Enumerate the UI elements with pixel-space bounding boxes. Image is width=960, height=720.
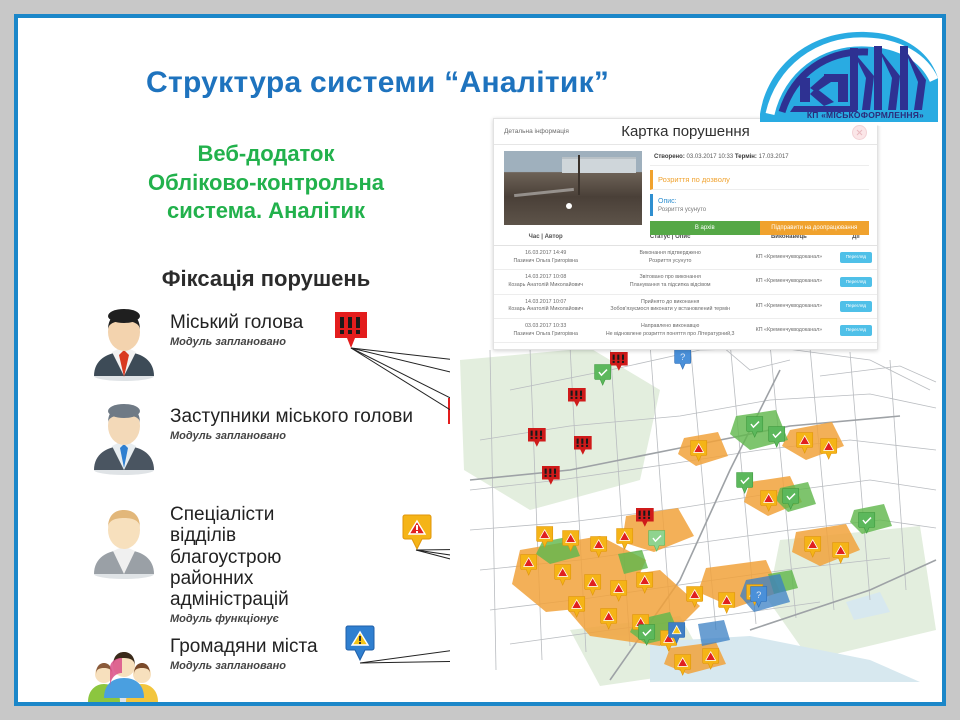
- blue-warning-pin-icon: [345, 625, 375, 661]
- city-violations-map[interactable]: ? ?: [450, 330, 942, 702]
- cell-author: Козарь Анатолій Миколайович: [496, 306, 595, 314]
- deadline-label: Термін:: [735, 154, 757, 160]
- company-logo: КП «МІСЬКОФОРМЛЕННЯ»: [746, 18, 942, 132]
- section-label: Фіксація порушень: [86, 266, 446, 292]
- cell-time-author: 14.03.2017 10:08 Козарь Анатолій Миколай…: [494, 270, 597, 294]
- description-row: Опис: Розриття усунуто: [650, 194, 869, 216]
- logo-caption: КП «МІСЬКОФОРМЛЕННЯ»: [807, 110, 924, 120]
- cell-status: Направлено виконавцю: [599, 323, 741, 331]
- table-row[interactable]: 03.03.2017 10:33 Пазинич Ольга Григорівн…: [494, 319, 877, 343]
- cell-time-author: 14.03.2017 10:07 Козарь Анатолій Миколай…: [494, 294, 597, 318]
- card-body: Створено: 03.03.2017 10:33 Термін: 17.03…: [494, 145, 877, 229]
- cell-time: 03.03.2017 10:33: [496, 323, 595, 331]
- cell-status: Виконання підтверджено: [599, 250, 741, 258]
- slide-frame: Структура системи “Аналітик” Веб-додаток…: [14, 14, 946, 706]
- cell-desc: Розриття усунуто: [599, 258, 741, 266]
- cell-status-desc: Звітовано про виконання Планування та пі…: [597, 270, 743, 294]
- role-name: Спеціалісти відділів благоустрою районни…: [170, 504, 289, 610]
- page-title: Структура системи “Аналітик”: [146, 66, 609, 100]
- role-status: Модуль заплановано: [170, 430, 413, 442]
- businessman-blue-tie-icon: [86, 400, 162, 476]
- cell-time-author: 03.03.2017 10:33 Пазинич Ольга Григорівн…: [494, 319, 597, 343]
- role-text: Заступники міського голови Модуль заплан…: [170, 406, 413, 442]
- cell-status-desc: Прийнято до виконання Зобов'язуємося вик…: [597, 294, 743, 318]
- cell-time: 16.03.2017 14:49: [496, 250, 595, 258]
- svg-text:?: ?: [756, 590, 761, 600]
- cell-executor: КП «Кременчукводоканал»: [743, 294, 835, 318]
- violation-card[interactable]: Детальна інформація Картка порушення Ств…: [493, 118, 878, 350]
- orange-triangle-pin-icon: [402, 514, 432, 550]
- cell-status-desc: Направлено виконавцю Не відновлене розри…: [597, 319, 743, 343]
- cell-author: Козарь Анатолій Миколайович: [496, 282, 595, 290]
- cell-time: 14.03.2017 10:08: [496, 274, 595, 282]
- cell-time-author: 16.03.2017 14:49 Пазинич Ольга Григорівн…: [494, 246, 597, 270]
- cell-status-desc: Виконання підтверджено Розриття усунуто: [597, 246, 743, 270]
- role-name: Заступники міського голови: [170, 406, 413, 427]
- violation-photo[interactable]: [504, 151, 642, 225]
- specialist-gray-suit-icon: [86, 504, 162, 580]
- archive-button[interactable]: В архів: [650, 221, 760, 235]
- role-text: Міський голова Модуль заплановано: [170, 312, 303, 348]
- app-name: Веб-додаток Обліково-контрольна система.…: [86, 140, 446, 226]
- row-action-button[interactable]: Перегляд: [840, 301, 872, 312]
- table-row[interactable]: 14.03.2017 10:07 Козарь Анатолій Миколай…: [494, 294, 877, 318]
- card-meta: Створено: 03.03.2017 10:33 Термін: 17.03…: [650, 151, 869, 166]
- app-name-line-2: Обліково-контрольна: [86, 169, 446, 198]
- role-name: Міський голова: [170, 312, 303, 333]
- created-value: 03.03.2017 10:33: [687, 154, 734, 160]
- svg-text:?: ?: [680, 352, 685, 362]
- row-action-button[interactable]: Перегляд: [840, 252, 872, 263]
- forward-button[interactable]: Підправити на доопрацювання: [760, 221, 870, 235]
- card-actions: В архів Підправити на доопрацювання: [650, 221, 869, 235]
- cell-executor: КП «Кременчукводоканал»: [743, 319, 835, 343]
- tab-detailed-info[interactable]: Детальна інформація: [504, 128, 569, 135]
- cell-executor: КП «Кременчукводоканал»: [743, 270, 835, 294]
- deadline-value: 17.03.2017: [759, 154, 789, 160]
- cell-action: Перегляд: [835, 294, 877, 318]
- role-name: Громадяни міста: [170, 636, 318, 657]
- violation-type-row: Розриття по дозволу: [650, 170, 869, 190]
- logo-mark: КП «МІСЬКОФОРМЛЕННЯ»: [754, 18, 940, 122]
- businessman-red-tie-icon: [86, 306, 162, 382]
- role-text: Громадяни міста Модуль заплановано: [170, 636, 318, 672]
- role-text: Спеціалісти відділів благоустрою районни…: [170, 504, 289, 625]
- cell-action: Перегляд: [835, 270, 877, 294]
- card-title: Картка порушення: [621, 123, 750, 140]
- cell-desc: Планування та підсипка відсівом: [599, 282, 741, 290]
- table-row[interactable]: 16.03.2017 14:49 Пазинич Ольга Григорівн…: [494, 246, 877, 270]
- card-details: Створено: 03.03.2017 10:33 Термін: 17.03…: [650, 151, 869, 229]
- cell-executor: КП «Кременчукводоканал»: [743, 246, 835, 270]
- cell-action: Перегляд: [835, 319, 877, 343]
- row-action-button[interactable]: Перегляд: [840, 325, 872, 336]
- slide: Структура системи “Аналітик” Веб-додаток…: [18, 18, 942, 702]
- cell-status: Звітовано про виконання: [599, 274, 741, 282]
- cell-author: Пазинич Ольга Григорівна: [496, 331, 595, 339]
- red-exclamation-pin-icon: [333, 310, 369, 350]
- violation-type: Розриття по дозволу: [658, 175, 730, 184]
- history-table: Час | Автор Статус | Опис Виконавець Дії…: [494, 229, 877, 343]
- col-time-author: Час | Автор: [494, 229, 597, 246]
- app-name-line-3: система. Аналітик: [86, 197, 446, 226]
- citizens-group-icon: [86, 630, 162, 702]
- cell-desc: Не відновлене розриття поняття про Літер…: [599, 331, 741, 339]
- role-status: Модуль заплановано: [170, 336, 303, 348]
- created-label: Створено:: [654, 154, 685, 160]
- description-value: Розриття усунуто: [658, 207, 869, 213]
- row-action-button[interactable]: Перегляд: [840, 277, 872, 288]
- role-status: Модуль функціонує: [170, 613, 289, 625]
- cell-author: Пазинич Ольга Григорівна: [496, 258, 595, 266]
- cell-desc: Зобов'язуємося виконати у встановлений т…: [599, 306, 741, 314]
- role-status: Модуль заплановано: [170, 660, 318, 672]
- table-row[interactable]: 14.03.2017 10:08 Козарь Анатолій Миколай…: [494, 270, 877, 294]
- app-name-line-1: Веб-додаток: [86, 140, 446, 169]
- description-label: Опис:: [658, 198, 677, 205]
- cell-action: Перегляд: [835, 246, 877, 270]
